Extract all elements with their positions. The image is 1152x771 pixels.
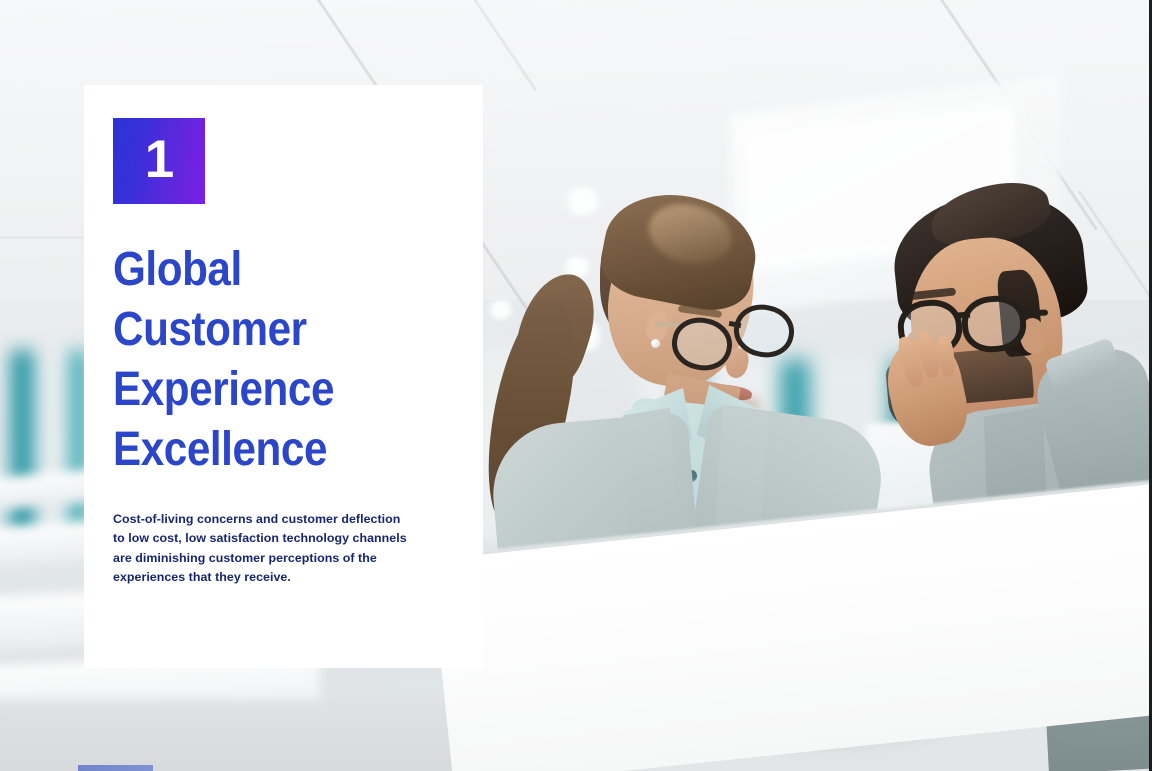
ceiling-spotlight <box>486 300 516 320</box>
woman-earring <box>651 339 660 348</box>
man-eyeglass-temple <box>1022 310 1048 317</box>
ceiling-spotlight <box>560 186 606 216</box>
section-number-badge: 1 <box>113 118 205 204</box>
bottom-progress-strip <box>78 765 153 771</box>
presentation-slide: 1 Global Customer Experience Excellence … <box>0 0 1152 771</box>
content-card: 1 Global Customer Experience Excellence … <box>84 85 483 668</box>
page-title: Global Customer Experience Excellence <box>113 240 403 480</box>
page-description: Cost-of-living concerns and customer def… <box>113 510 435 588</box>
man-eyeglass-bridge <box>958 311 970 318</box>
section-number: 1 <box>145 133 173 186</box>
background-floor <box>0 700 510 771</box>
